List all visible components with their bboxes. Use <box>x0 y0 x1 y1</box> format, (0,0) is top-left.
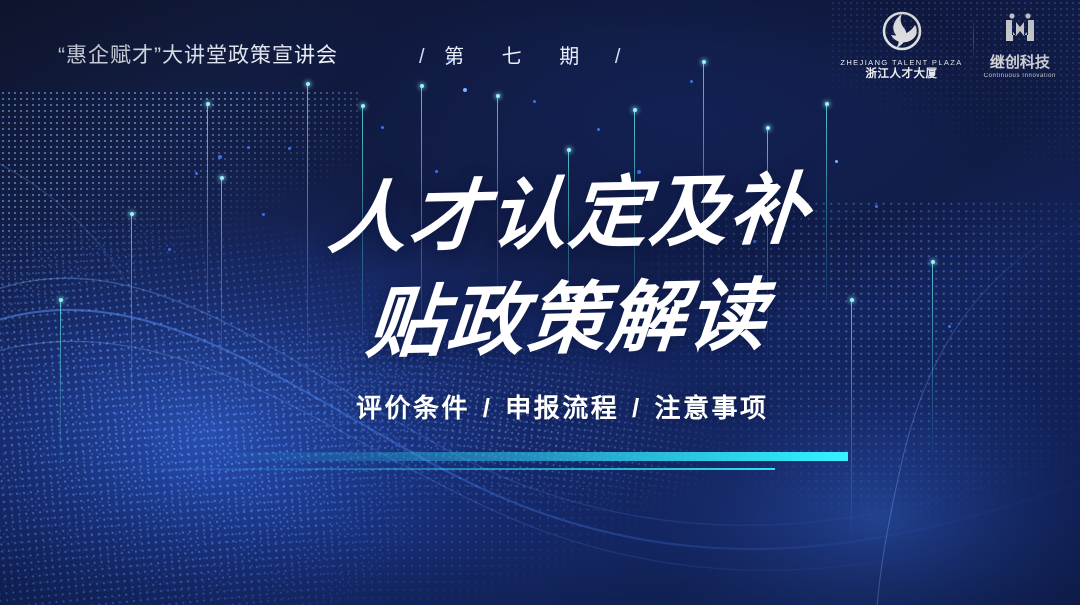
poster-canvas: “惠企赋才”大讲堂政策宣讲会 / 第 七 期 / ZHEJIANG TALENT… <box>0 0 1080 605</box>
light-beam-icon <box>131 214 132 414</box>
subtitle-separator: / <box>483 393 493 423</box>
logo-chinese-label: 继创科技 <box>990 53 1050 73</box>
subtitle-item-1: 评价条件 <box>356 393 470 423</box>
slash-right: / <box>615 46 621 68</box>
dot-mesh-topleft-icon <box>0 90 360 390</box>
logo-chinese-label: 浙江人才大厦 <box>866 67 938 82</box>
particle-dot-icon <box>247 146 250 149</box>
particle-dot-icon <box>875 205 878 208</box>
title-line-1: 人才认定及补 <box>325 147 815 269</box>
zhejiang-talent-plaza-mark-icon <box>882 11 922 56</box>
header-bar: “惠企赋才”大讲堂政策宣讲会 / 第 七 期 / ZHEJIANG TALENT… <box>0 0 1080 92</box>
light-beam-icon <box>60 300 61 480</box>
subtitle-separator: / <box>632 393 642 423</box>
title-line-2: 贴政策解读 <box>363 253 773 373</box>
particle-dot-icon <box>835 160 838 163</box>
issue-number-label: / 第 七 期 / <box>405 40 634 69</box>
particle-dot-icon <box>195 172 198 175</box>
light-beam-icon <box>221 178 222 388</box>
light-beam-icon <box>932 262 933 462</box>
logo-english-label: ZHEJIANG TALENT PLAZA <box>840 59 962 67</box>
light-beam-icon <box>826 104 827 320</box>
particle-dot-icon <box>948 325 951 328</box>
light-beam-icon <box>207 104 208 354</box>
subtitle-item-2: 申报流程 <box>505 393 619 423</box>
slash-left: / <box>419 46 425 68</box>
event-series-label: “惠企赋才”大讲堂政策宣讲会 <box>58 39 338 69</box>
jichuang-tech-mark-icon <box>1003 11 1037 50</box>
subtitle: 评价条件 / 申报流程 / 注意事项 <box>356 388 768 425</box>
logo-jichuang-tech: 继创科技 Continuous Innovation <box>974 11 1066 79</box>
light-beam-icon <box>851 300 852 540</box>
logo-zhejiang-talent-plaza: ZHEJIANG TALENT PLAZA 浙江人才大厦 <box>830 11 972 81</box>
logo-english-label: Continuous Innovation <box>984 73 1056 79</box>
particle-dot-icon <box>262 213 265 216</box>
issue-text: 第 七 期 <box>444 46 595 68</box>
subtitle-item-3: 注意事项 <box>654 393 768 423</box>
accent-rule-thick <box>210 452 848 461</box>
particle-dot-icon <box>597 128 600 131</box>
light-beam-icon <box>307 84 308 384</box>
particle-dot-icon <box>381 126 384 129</box>
accent-rule-thin <box>100 468 775 470</box>
particle-dot-icon <box>168 248 171 251</box>
particle-dot-icon <box>288 147 291 150</box>
particle-dot-icon <box>218 155 222 159</box>
logo-group: ZHEJIANG TALENT PLAZA 浙江人才大厦 继创科技 Contin… <box>830 11 1066 81</box>
particle-dot-icon <box>533 100 536 103</box>
